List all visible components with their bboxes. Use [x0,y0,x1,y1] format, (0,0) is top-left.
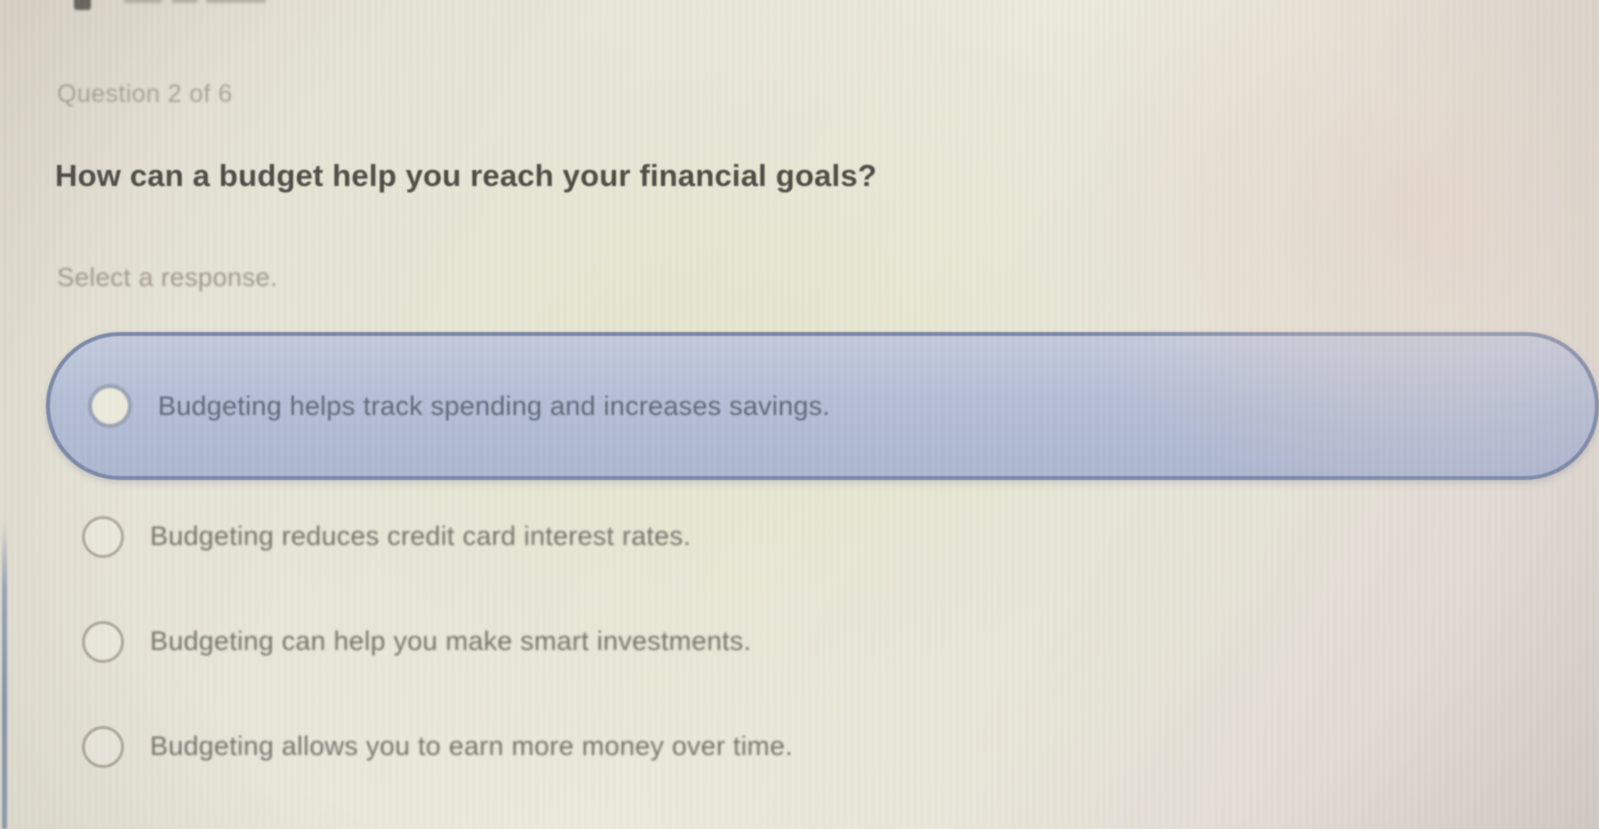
radio-unchecked-icon[interactable] [82,621,124,663]
answer-option-label: Budgeting helps track spending and incre… [158,391,830,422]
answer-option-label: Budgeting allows you to earn more money … [150,731,793,762]
radio-unchecked-icon[interactable] [82,516,124,558]
answer-option-1[interactable]: Budgeting helps track spending and incre… [46,332,1599,480]
answer-option-2[interactable]: Budgeting reduces credit card interest r… [0,485,691,588]
screen-left-edge-accent [2,520,7,829]
radio-unchecked-icon[interactable] [88,384,132,428]
question-title: How can a budget help you reach your fin… [55,158,877,194]
answer-option-3[interactable]: Budgeting can help you make smart invest… [0,590,751,693]
answer-option-label: Budgeting reduces credit card interest r… [150,521,691,552]
photographed-screen: Question 2 of 6 How can a budget help yo… [0,0,1599,829]
answer-option-4[interactable]: Budgeting allows you to earn more money … [0,695,793,798]
answer-option-label: Budgeting can help you make smart invest… [150,626,751,657]
radio-unchecked-icon[interactable] [82,726,124,768]
select-response-instruction: Select a response. [57,262,278,293]
quiz-question-panel: Question 2 of 6 How can a budget help yo… [0,0,1599,829]
question-counter: Question 2 of 6 [57,80,233,109]
